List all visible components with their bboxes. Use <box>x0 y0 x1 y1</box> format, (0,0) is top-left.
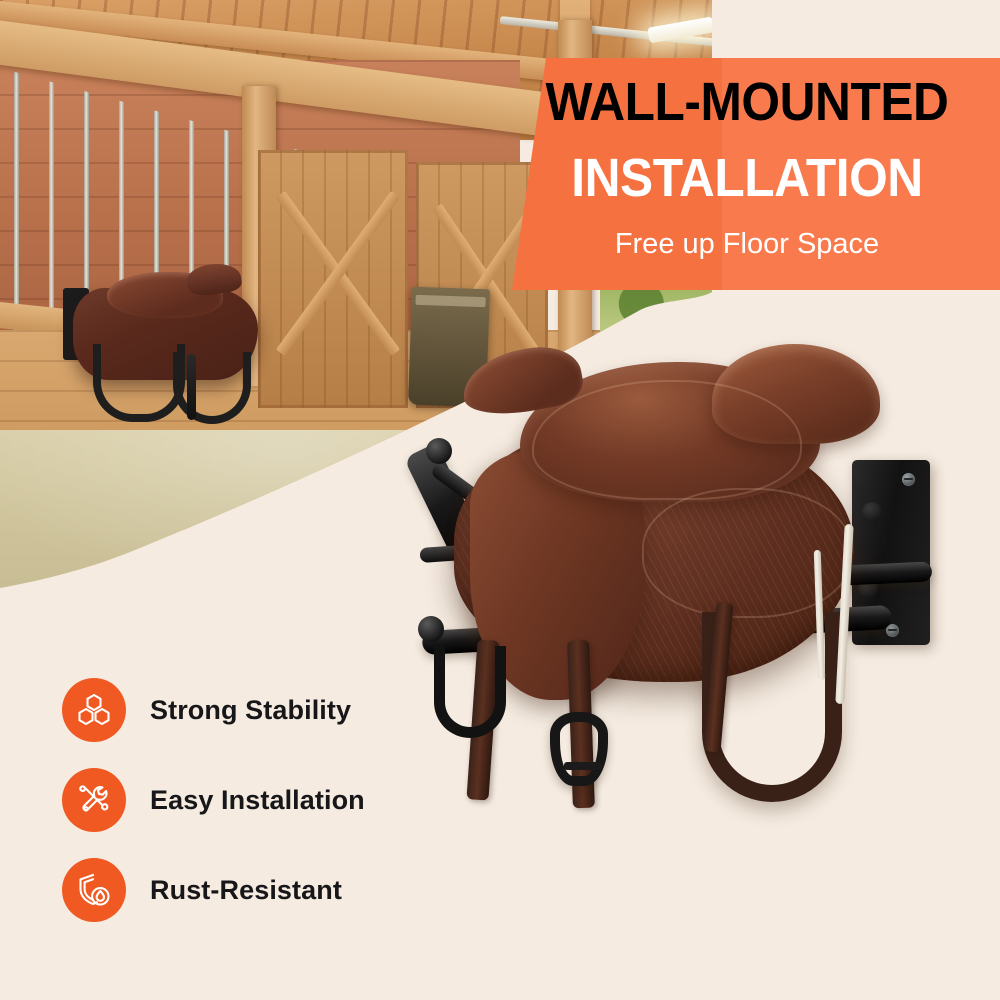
feature-item-easy-installation: Easy Installation <box>62 762 365 838</box>
inset-stirrup-leather <box>187 354 196 420</box>
wrench-screwdriver-icon <box>75 781 113 819</box>
honeycomb-hexagons-icon <box>75 691 113 729</box>
feature-item-rust-resistant: Rust-Resistant <box>62 852 365 928</box>
inset-saddle-cantle <box>185 260 243 297</box>
headline-line-1: WALL-MOUNTED <box>531 74 963 131</box>
feature-label: Strong Stability <box>150 695 351 726</box>
headline-subtitle: Free up Floor Space <box>512 228 982 261</box>
headline-line-2: INSTALLATION <box>531 150 963 207</box>
inset-rack-loop <box>93 344 185 422</box>
feature-icon-badge <box>62 768 126 832</box>
shield-water-drop-icon <box>75 871 113 909</box>
rack-arm-end-cap <box>426 438 452 464</box>
stirrup-iron <box>550 712 608 786</box>
rack-bar-end-cap <box>418 616 444 642</box>
inset-rack-loop <box>173 352 251 424</box>
feature-icon-badge <box>62 858 126 922</box>
feature-list: Strong Stability Easy Installation <box>62 672 365 942</box>
barn-door-left <box>258 150 408 408</box>
feature-icon-badge <box>62 678 126 742</box>
inset-saddle-on-wall-rack <box>55 258 270 443</box>
product-image-canvas: WALL-MOUNTED INSTALLATION Free up Floor … <box>0 0 1000 1000</box>
feature-label: Rust-Resistant <box>150 875 342 906</box>
stirrup-tread <box>564 762 602 770</box>
feature-label: Easy Installation <box>150 785 365 816</box>
feature-item-strong-stability: Strong Stability <box>62 672 365 748</box>
main-product-saddle-rack <box>412 340 972 900</box>
rack-hanging-hook <box>434 646 506 738</box>
rack-attachment-nub <box>862 502 882 522</box>
mounting-screw <box>902 473 915 486</box>
